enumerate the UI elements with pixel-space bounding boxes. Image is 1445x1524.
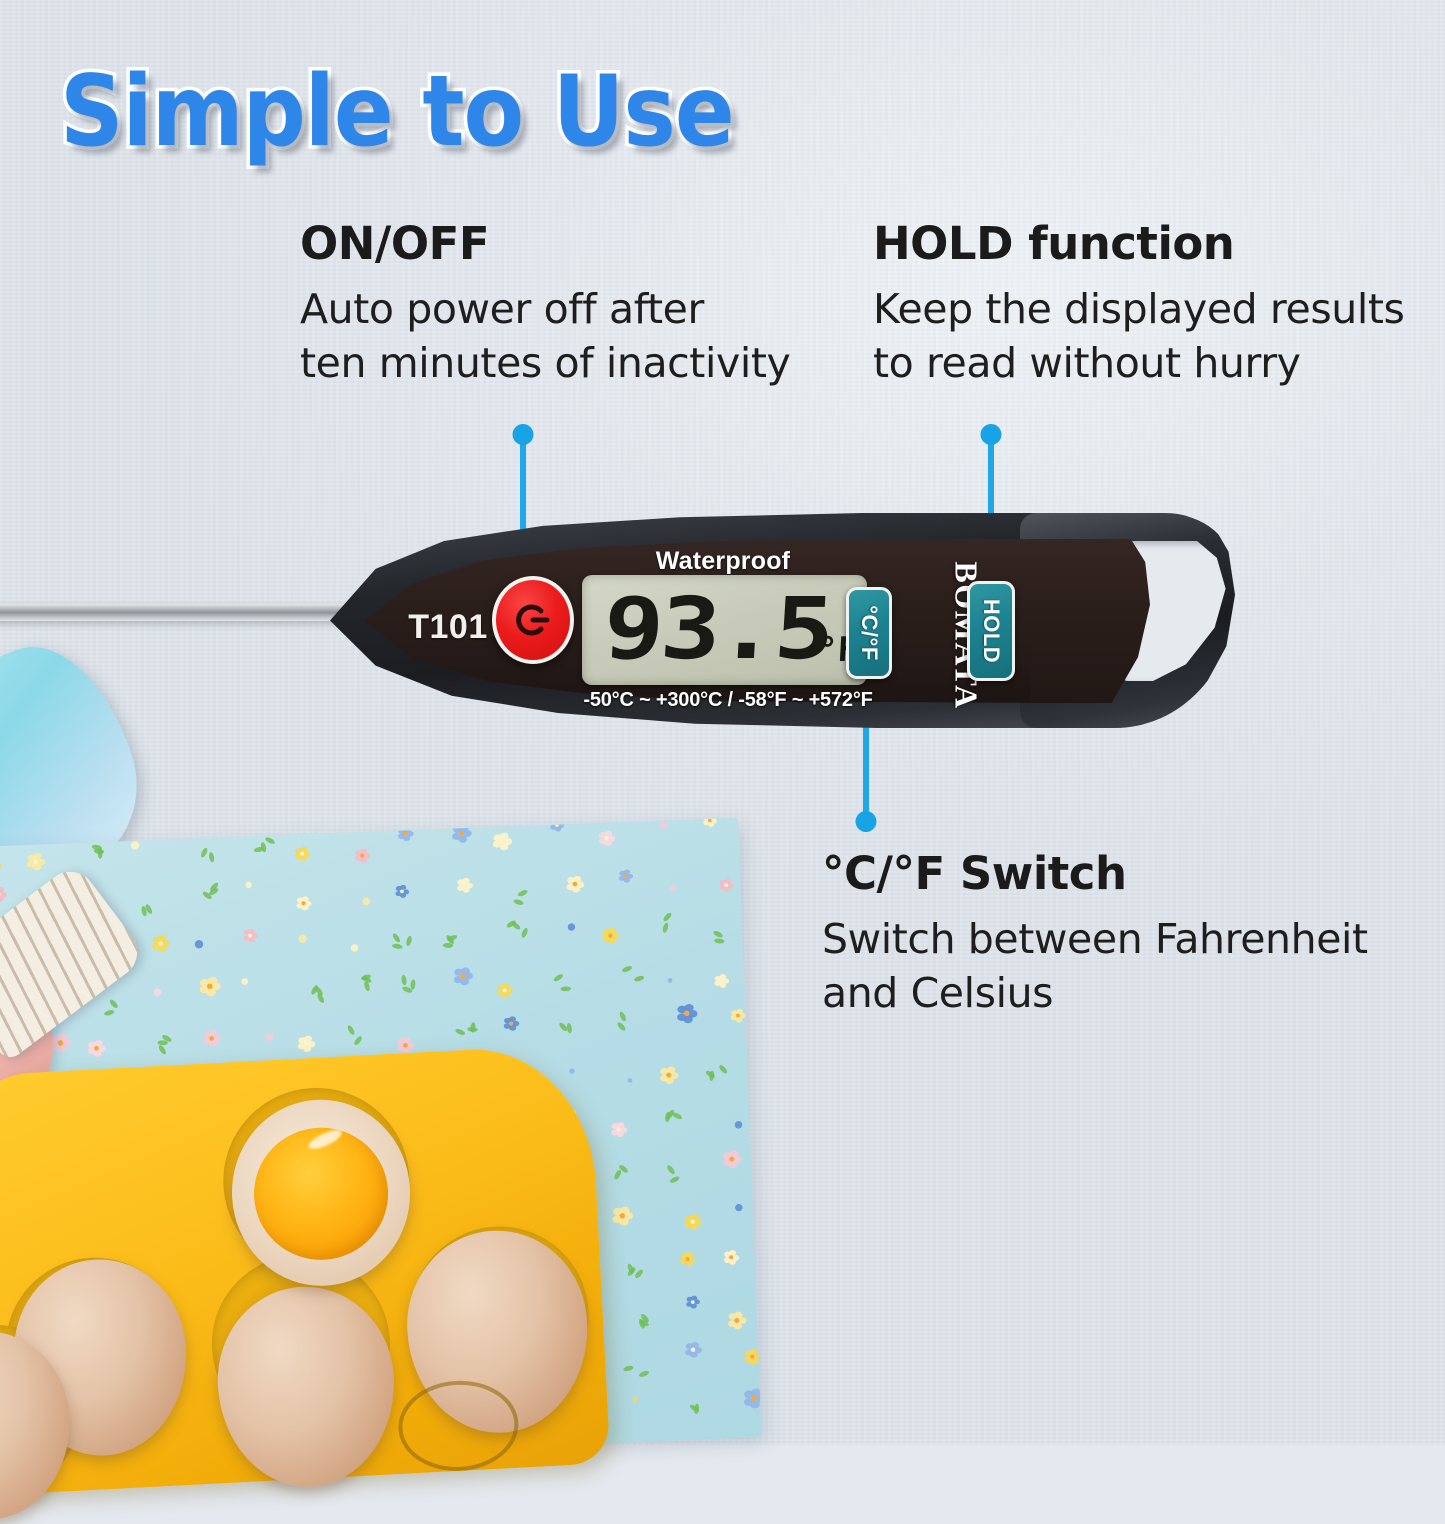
kitchen-scene	[0, 760, 780, 1445]
callout-body: Keep the displayed results to read witho…	[873, 282, 1405, 390]
callout-heading: ON/OFF	[300, 218, 790, 270]
callout-body: Auto power off after ten minutes of inac…	[300, 282, 790, 390]
callout-body-line: Switch between Fahrenheit	[822, 912, 1368, 966]
leader-dot	[981, 424, 1002, 445]
leader-dot	[856, 811, 877, 832]
hold-button[interactable]: HOLD	[967, 581, 1015, 681]
callout-on-off: ON/OFF Auto power off after ten minutes …	[300, 218, 790, 390]
thermometer-probe	[0, 604, 350, 621]
callout-body-line: ten minutes of inactivity	[300, 336, 790, 390]
hold-button-label: HOLD	[978, 599, 1004, 663]
callout-body-line: to read without hurry	[873, 336, 1405, 390]
cf-button-label: °C/°F	[856, 605, 882, 661]
leader-dot	[513, 424, 534, 445]
callout-body-line: Keep the displayed results	[873, 282, 1405, 336]
page-title: Simple to Use	[60, 60, 734, 166]
callout-body: Switch between Fahrenheit and Celsius	[822, 912, 1368, 1020]
model-label: T101	[388, 608, 508, 647]
egg-carton	[0, 1044, 611, 1497]
callout-heading: °C/°F Switch	[822, 848, 1368, 900]
power-icon	[513, 600, 553, 640]
callout-body-line: and Celsius	[822, 966, 1368, 1020]
waterproof-label: Waterproof	[588, 547, 858, 576]
callout-body-line: Auto power off after	[300, 282, 790, 336]
callout-heading: HOLD function	[873, 218, 1405, 270]
lcd-display: 93.5 °F	[582, 575, 867, 685]
temperature-reading: 93.5	[601, 587, 834, 672]
measurement-range-label: -50°C ~ +300°C / -58°F ~ +572°F	[563, 689, 893, 712]
callout-cf-switch: °C/°F Switch Switch between Fahrenheit a…	[822, 848, 1368, 1020]
thermometer-device: T101 Waterproof 93.5 °F -50°C ~ +300°C /…	[330, 503, 1220, 736]
power-button[interactable]	[492, 576, 574, 664]
brand-logo: BOMATA	[886, 555, 1046, 715]
callout-hold: HOLD function Keep the displayed results…	[873, 218, 1405, 390]
